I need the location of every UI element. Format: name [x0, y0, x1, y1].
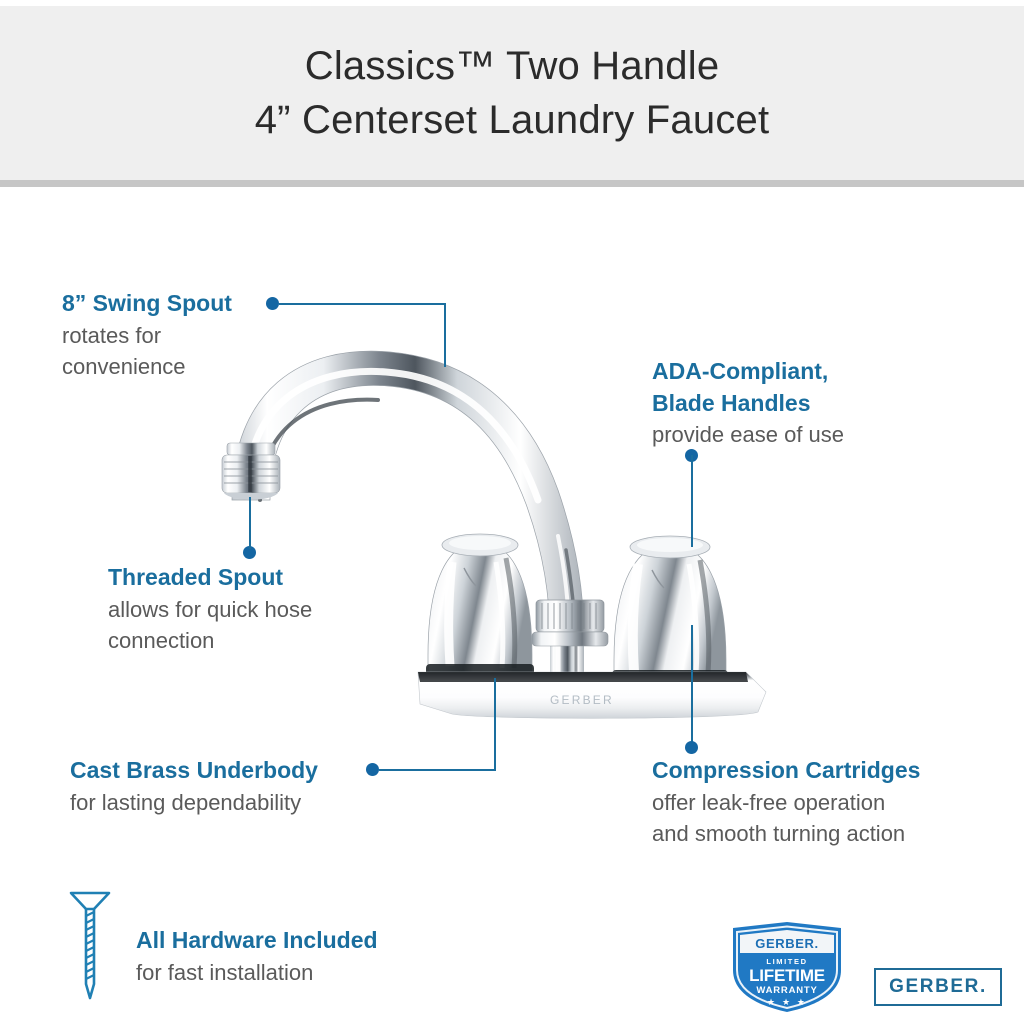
- faucet-base-graphic: GERBER: [418, 672, 766, 718]
- badge-brand-text: GERBER.: [755, 936, 818, 951]
- callout-desc-compression-line-1: offer leak-free operation: [652, 787, 920, 818]
- callout-title-swing-spout: 8” Swing Spout: [62, 288, 232, 320]
- gerber-logo-text: GERBER.: [889, 976, 987, 998]
- page-title-line-2: 4” Centerset Laundry Faucet: [255, 93, 770, 147]
- leader-dot-cast-brass: [366, 763, 379, 776]
- header-divider: [0, 180, 1024, 187]
- callout-title-ada-line-1: ADA-Compliant,: [652, 356, 844, 388]
- callout-desc-swing-spout-line-2: convenience: [62, 351, 232, 382]
- threaded-spout-tip-graphic: [222, 443, 280, 500]
- leader-line-compression-v: [691, 625, 693, 743]
- callout-desc-cast-brass-line-1: for lasting dependability: [70, 787, 318, 818]
- callout-title-threaded-spout: Threaded Spout: [108, 562, 312, 594]
- callout-threaded-spout: Threaded Spout allows for quick hose con…: [108, 562, 312, 656]
- callout-ada-blade-handles: ADA-Compliant, Blade Handles provide eas…: [652, 356, 844, 451]
- screw-icon: [62, 888, 118, 1006]
- callout-compression-cartridges: Compression Cartridges offer leak-free o…: [652, 755, 920, 849]
- leader-dot-compression: [685, 741, 698, 754]
- badge-warranty-text: WARRANTY: [756, 985, 817, 996]
- callout-cast-brass-underbody: Cast Brass Underbody for lasting dependa…: [70, 755, 318, 818]
- leader-line-swing-v: [444, 303, 446, 367]
- base-brand-engraving: GERBER: [550, 693, 614, 707]
- callout-desc-compression-line-2: and smooth turning action: [652, 818, 920, 849]
- header-banner: Classics™ Two Handle 4” Centerset Laundr…: [0, 6, 1024, 180]
- right-handle-graphic: [612, 536, 728, 684]
- badge-limited-text: LIMITED: [766, 957, 807, 966]
- leader-line-ada-v: [691, 455, 693, 547]
- leader-line-threaded-v: [249, 497, 251, 549]
- badge-stars: ★ ★ ★: [767, 998, 807, 1008]
- callout-desc-threaded-spout-line-2: connection: [108, 625, 312, 656]
- callout-desc-swing-spout-line-1: rotates for: [62, 320, 232, 351]
- infographic-page: Classics™ Two Handle 4” Centerset Laundr…: [0, 0, 1024, 1024]
- callout-all-hardware-included: All Hardware Included for fast installat…: [136, 925, 378, 988]
- callout-title-ada-line-2: Blade Handles: [652, 388, 844, 420]
- leader-line-cast-h: [379, 769, 496, 771]
- badge-lifetime-text: LIFETIME: [749, 966, 825, 985]
- callout-desc-threaded-spout-line-1: allows for quick hose: [108, 594, 312, 625]
- page-title-line-1: Classics™ Two Handle: [305, 39, 720, 93]
- left-handle-graphic: [426, 534, 534, 678]
- callout-desc-ada-line-1: provide ease of use: [652, 419, 844, 450]
- callout-swing-spout: 8” Swing Spout rotates for convenience: [62, 288, 232, 382]
- callout-title-cast-brass: Cast Brass Underbody: [70, 755, 318, 787]
- callout-desc-hardware: for fast installation: [136, 957, 378, 988]
- gerber-logo: GERBER.: [874, 968, 1002, 1006]
- callout-title-compression: Compression Cartridges: [652, 755, 920, 787]
- callout-title-hardware: All Hardware Included: [136, 925, 378, 957]
- limited-lifetime-warranty-badge: GERBER. LIMITED LIFETIME WARRANTY ★ ★ ★: [727, 920, 847, 1014]
- spout-collar-graphic: [532, 600, 608, 646]
- leader-line-cast-v: [494, 678, 496, 770]
- leader-line-swing-h: [279, 303, 446, 305]
- leader-dot-swing-spout: [266, 297, 279, 310]
